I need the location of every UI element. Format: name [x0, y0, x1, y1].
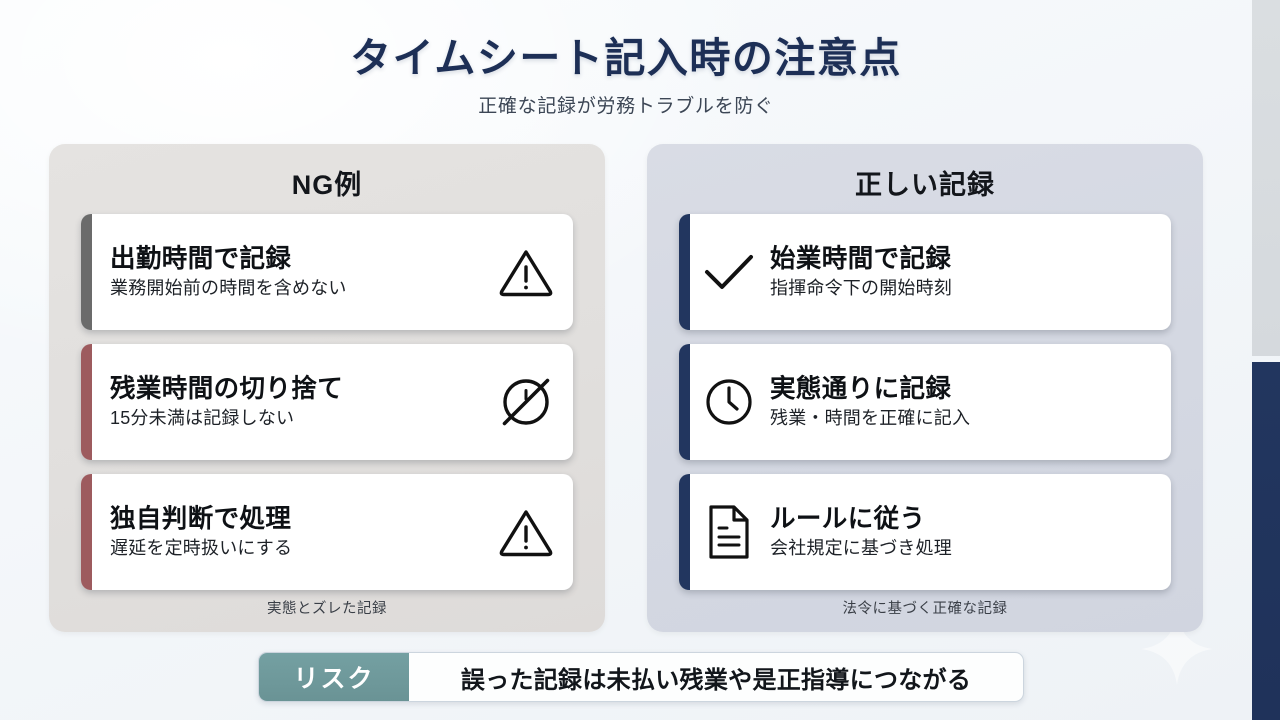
risk-banner-text: 誤った記録は未払い残業や是正指導につながる	[409, 653, 1023, 701]
ng-card-2-subtitle: 15分未満は記録しない	[110, 408, 485, 430]
ng-card-3-accent-bar	[81, 474, 92, 590]
ok-card-1-subtitle: 指揮命令下の開始時刻	[770, 278, 1153, 300]
warning-triangle-icon	[495, 241, 557, 303]
ok-card-2-title: 実態通りに記録	[770, 374, 1153, 404]
document-icon	[698, 501, 760, 563]
header: タイムシート記入時の注意点 正確な記録が労務トラブルを防ぐ	[0, 36, 1252, 118]
page-title: タイムシート記入時の注意点	[0, 36, 1252, 82]
ok-card-2-accent-bar	[679, 344, 690, 460]
risk-badge: リスク	[259, 653, 409, 701]
ok-card-3[interactable]: ルールに従う 会社規定に基づき処理	[679, 474, 1171, 590]
ok-card-3-accent-bar	[679, 474, 690, 590]
right-edge-decoration	[1252, 0, 1280, 720]
ng-card-3-title: 独自判断で処理	[110, 504, 485, 534]
ng-card-2-accent-bar	[81, 344, 92, 460]
panel-correct-records: 正しい記録 始業時間で記録 指揮命令下の開始時刻	[647, 144, 1203, 632]
clock-icon	[698, 371, 760, 433]
ng-card-3[interactable]: 独自判断で処理 遅延を定時扱いにする	[81, 474, 573, 590]
ng-card-1-title: 出勤時間で記録	[110, 244, 485, 274]
warning-triangle-icon	[495, 501, 557, 563]
ng-card-1[interactable]: 出勤時間で記録 業務開始前の時間を含めない	[81, 214, 573, 330]
ng-card-1-subtitle: 業務開始前の時間を含めない	[110, 278, 485, 300]
ok-card-1-title: 始業時間で記録	[770, 244, 1153, 274]
ok-card-3-title: ルールに従う	[770, 504, 1153, 534]
ok-card-1[interactable]: 始業時間で記録 指揮命令下の開始時刻	[679, 214, 1171, 330]
ok-card-3-subtitle: 会社規定に基づき処理	[770, 538, 1153, 560]
ng-card-3-subtitle: 遅延を定時扱いにする	[110, 538, 485, 560]
ng-card-2-title: 残業時間の切り捨て	[110, 374, 485, 404]
panel-ng-heading: NG例	[65, 158, 589, 214]
risk-banner: リスク 誤った記録は未払い残業や是正指導につながる	[258, 652, 1024, 702]
ng-card-2[interactable]: 残業時間の切り捨て 15分未満は記録しない	[81, 344, 573, 460]
edge-strip-bottom	[1252, 360, 1280, 720]
panel-ok-footer: 法令に基づく正確な記録	[647, 597, 1203, 618]
ok-card-2-subtitle: 残業・時間を正確に記入	[770, 408, 1153, 430]
panel-ng-footer: 実態とズレた記録	[49, 597, 605, 618]
panel-ok-heading: 正しい記録	[663, 158, 1187, 214]
check-icon	[698, 241, 760, 303]
no-clock-icon	[495, 371, 557, 433]
comparison-panels: NG例 出勤時間で記録 業務開始前の時間を含めない	[0, 144, 1252, 632]
page-subtitle: 正確な記録が労務トラブルを防ぐ	[0, 91, 1252, 118]
panel-ng-examples: NG例 出勤時間で記録 業務開始前の時間を含めない	[49, 144, 605, 632]
panel-ok-card-list: 始業時間で記録 指揮命令下の開始時刻 実態通りに記録	[663, 214, 1187, 590]
ng-card-1-accent-bar	[81, 214, 92, 330]
edge-strip-top	[1252, 0, 1280, 356]
ok-card-1-accent-bar	[679, 214, 690, 330]
panel-ng-card-list: 出勤時間で記録 業務開始前の時間を含めない	[65, 214, 589, 590]
ok-card-2[interactable]: 実態通りに記録 残業・時間を正確に記入	[679, 344, 1171, 460]
